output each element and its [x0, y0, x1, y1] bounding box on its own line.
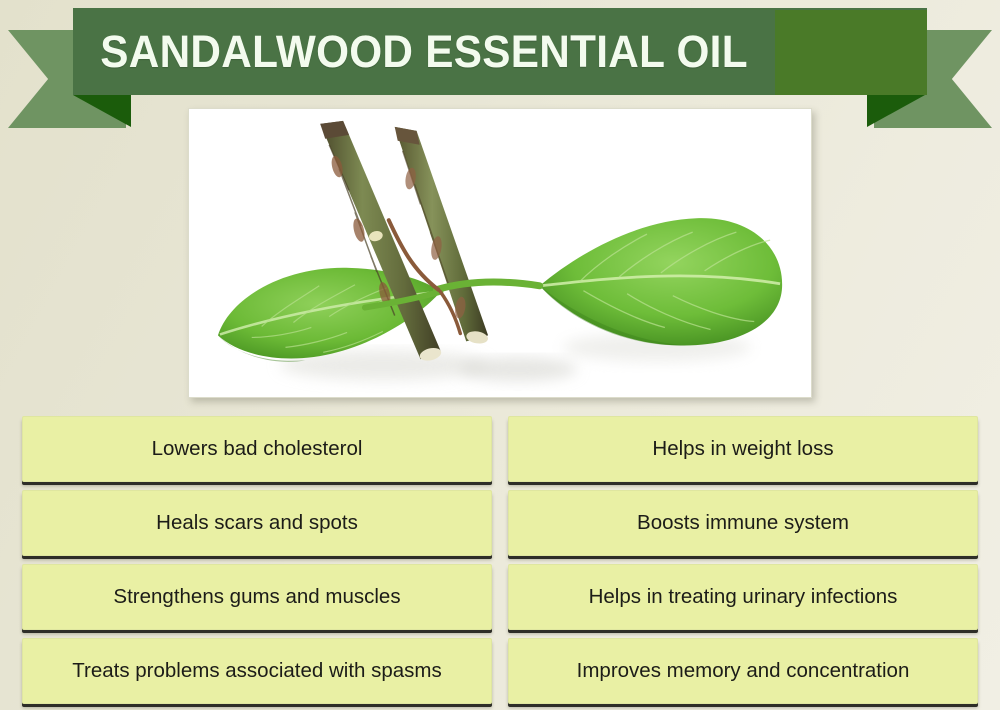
benefit-item-strengthens-gums-and-muscles[interactable]: Strengthens gums and muscles: [22, 564, 492, 630]
hero-photo: [188, 108, 812, 398]
benefit-label: Helps in treating urinary infections: [589, 585, 898, 609]
infographic-poster: SANDALWOOD ESSENTIAL OIL: [0, 0, 1000, 710]
benefit-label: Helps in weight loss: [652, 437, 833, 461]
benefit-item-improves-memory-and-concentration[interactable]: Improves memory and concentration: [508, 638, 978, 704]
benefit-label: Heals scars and spots: [156, 511, 358, 535]
banner-bar: SANDALWOOD ESSENTIAL OIL: [73, 8, 927, 95]
benefits-grid: Lowers bad cholesterol Helps in weight l…: [22, 416, 978, 704]
sandalwood-twigs-and-leaves-image: [189, 109, 811, 397]
benefit-item-helps-in-weight-loss[interactable]: Helps in weight loss: [508, 416, 978, 482]
page-title: SANDALWOOD ESSENTIAL OIL: [73, 8, 876, 95]
benefit-label: Improves memory and concentration: [577, 659, 910, 683]
benefit-label: Boosts immune system: [637, 511, 849, 535]
benefit-item-lowers-bad-cholesterol[interactable]: Lowers bad cholesterol: [22, 416, 492, 482]
benefit-item-helps-in-treating-urinary-infections[interactable]: Helps in treating urinary infections: [508, 564, 978, 630]
benefit-label: Lowers bad cholesterol: [152, 437, 363, 461]
benefit-item-treats-problems-associated-with-spasms[interactable]: Treats problems associated with spasms: [22, 638, 492, 704]
benefit-label: Treats problems associated with spasms: [72, 659, 442, 683]
benefit-item-boosts-immune-system[interactable]: Boosts immune system: [508, 490, 978, 556]
benefit-label: Strengthens gums and muscles: [113, 585, 400, 609]
benefit-item-heals-scars-and-spots[interactable]: Heals scars and spots: [22, 490, 492, 556]
